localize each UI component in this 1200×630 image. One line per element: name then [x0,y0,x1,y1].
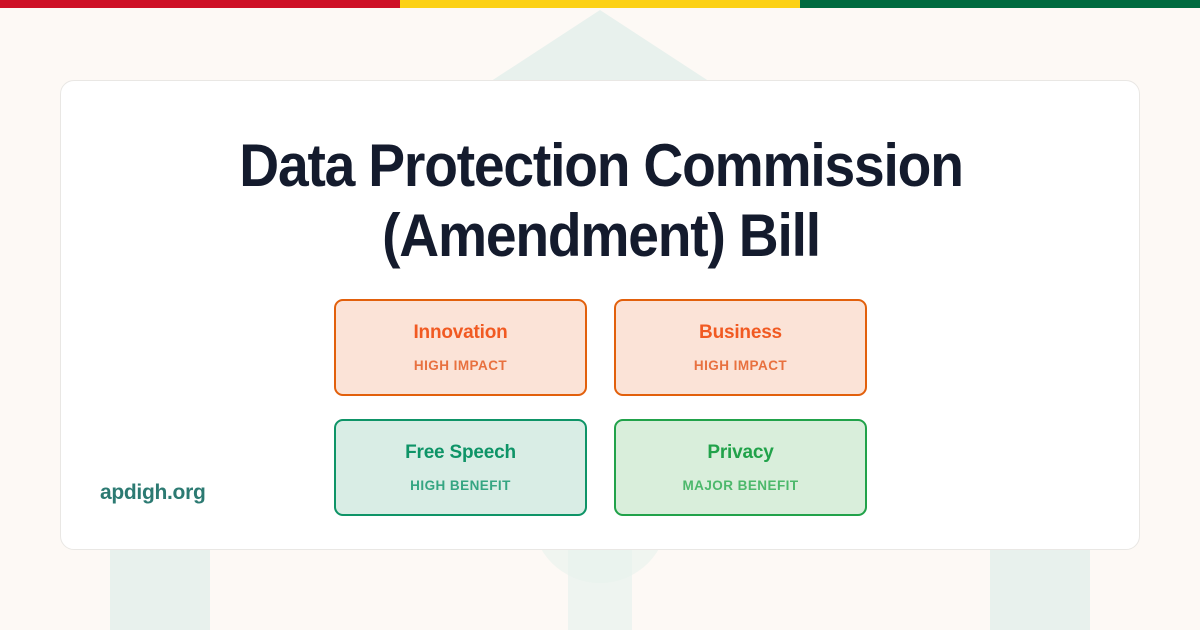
impact-card-free-speech: Free Speech HIGH BENEFIT [334,419,587,516]
flag-stripe [0,0,1200,8]
site-credit: apdigh.org [100,481,206,505]
impact-card-rating: HIGH BENEFIT [410,478,511,493]
impact-card-rating: HIGH IMPACT [414,358,507,373]
impact-card-label: Innovation [413,322,507,344]
impact-card-business: Business HIGH IMPACT [614,299,867,396]
impact-card-grid: Innovation HIGH IMPACT Business HIGH IMP… [334,299,867,516]
impact-card-rating: MAJOR BENEFIT [682,478,798,493]
flag-band-red [0,0,400,8]
impact-card-label: Privacy [707,442,773,464]
impact-card-label: Business [699,322,782,344]
impact-card-privacy: Privacy MAJOR BENEFIT [614,419,867,516]
flag-band-green [800,0,1200,8]
impact-card-rating: HIGH IMPACT [694,358,787,373]
impact-card-label: Free Speech [405,442,516,464]
content-card: Data Protection Commission (Amendment) B… [60,80,1140,550]
flag-band-yellow [400,0,800,8]
page-title: Data Protection Commission (Amendment) B… [61,131,1141,271]
page-title-line-2: (Amendment) Bill [104,201,1098,271]
impact-card-innovation: Innovation HIGH IMPACT [334,299,587,396]
page-title-line-1: Data Protection Commission [104,131,1098,201]
